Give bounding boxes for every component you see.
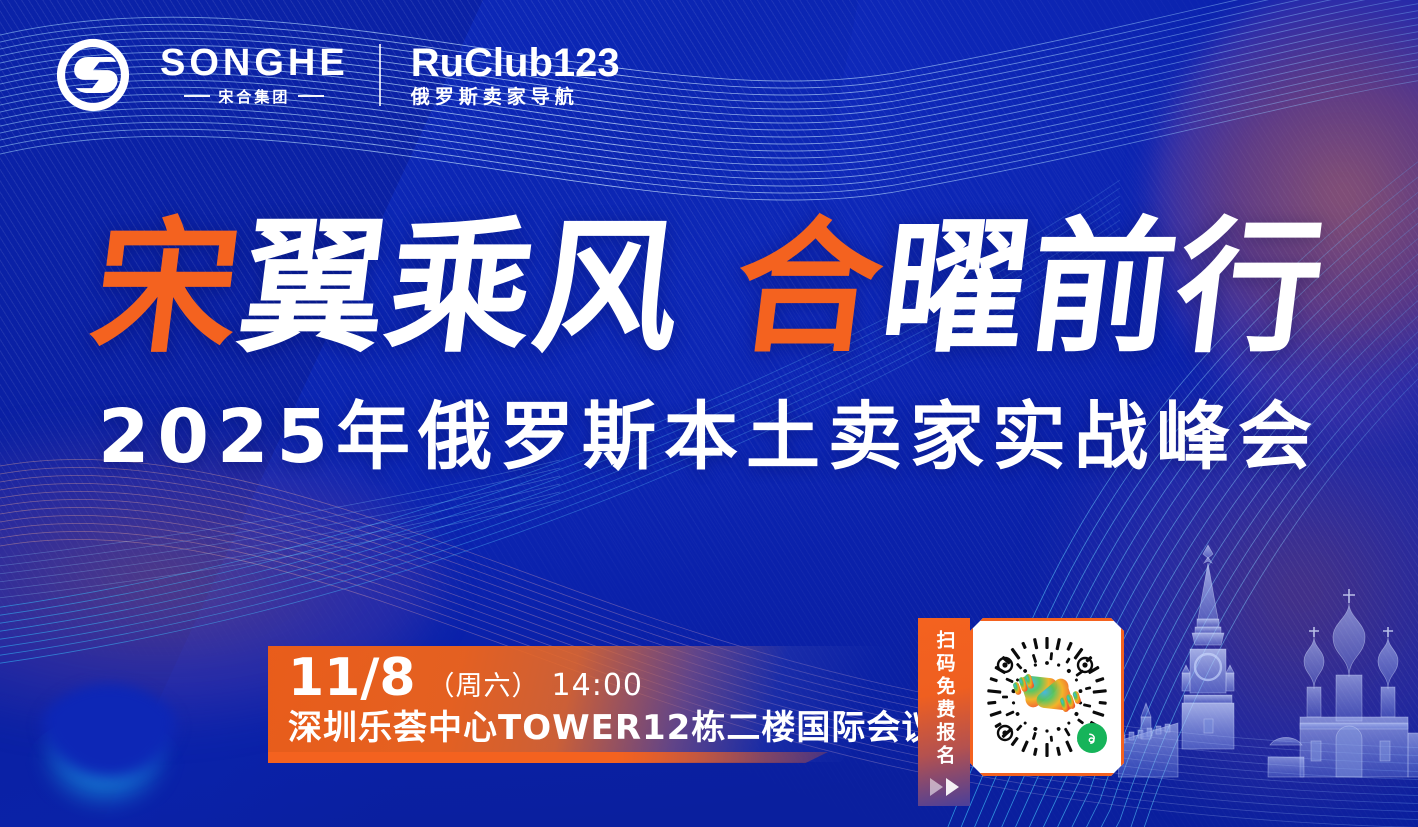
kremlin-spasskaya-tower-silhouette bbox=[1118, 527, 1418, 827]
wechat-miniprogram-icon bbox=[1077, 723, 1107, 753]
songhe-name-cn-row: 宋合集团 bbox=[184, 86, 324, 107]
qr-code-inner bbox=[981, 631, 1113, 763]
title-highlight-song: 宋 bbox=[84, 204, 252, 373]
title-block: 宋翼乘风合曜前行 2025年俄罗斯本土卖家实战峰会 bbox=[0, 214, 1418, 484]
cyan-crescent-mask bbox=[34, 684, 184, 804]
ruclub-name: RuClub123 bbox=[411, 43, 620, 83]
event-info-content: 11/8 （周六） 14:00 深圳乐荟中心TOWER12栋二楼国际会议厅 bbox=[288, 652, 971, 747]
songhe-name: SONGHE bbox=[160, 44, 349, 82]
event-info-band-underline bbox=[268, 752, 828, 763]
event-venue: 深圳乐荟中心TOWER12栋二楼国际会议厅 bbox=[288, 711, 971, 747]
event-time: 14:00 bbox=[552, 671, 643, 701]
dash-left-icon bbox=[184, 95, 210, 97]
event-date: 11/8 bbox=[288, 652, 416, 704]
qr-registration-block[interactable]: 扫码免费报名 bbox=[918, 618, 1124, 806]
ruclub-name-cn: 俄罗斯卖家导航 bbox=[411, 88, 620, 107]
brand-header: SONGHE 宋合集团 RuClub123 俄罗斯卖家导航 bbox=[52, 34, 620, 116]
songhe-name-cn: 宋合集团 bbox=[218, 86, 290, 107]
triangle-arrow-icon bbox=[918, 778, 970, 796]
dash-right-icon bbox=[298, 95, 324, 97]
title-rest-two: 曜前行 bbox=[873, 204, 1335, 373]
songhe-circle-s-logo-icon bbox=[52, 34, 134, 116]
songhe-brand-block: SONGHE 宋合集团 bbox=[160, 44, 349, 107]
title-main-line: 宋翼乘风合曜前行 bbox=[0, 214, 1418, 363]
event-weekday: （周六） bbox=[428, 673, 540, 700]
brand-divider bbox=[379, 44, 381, 106]
title-highlight-he: 合 bbox=[726, 204, 894, 373]
title-subtitle: 2025年俄罗斯本土卖家实战峰会 bbox=[0, 377, 1418, 484]
event-promo-banner: SONGHE 宋合集团 RuClub123 俄罗斯卖家导航 宋翼乘风合曜前行 2… bbox=[0, 0, 1418, 827]
event-datetime-row: 11/8 （周六） 14:00 bbox=[288, 652, 971, 704]
title-rest-one: 翼乘风 bbox=[231, 204, 693, 373]
qr-callout-text: 扫码免费报名 bbox=[935, 630, 954, 768]
qr-code-card[interactable] bbox=[970, 618, 1124, 776]
ruclub-brand-block: RuClub123 俄罗斯卖家导航 bbox=[411, 43, 620, 107]
qr-callout-tab: 扫码免费报名 bbox=[918, 618, 970, 806]
